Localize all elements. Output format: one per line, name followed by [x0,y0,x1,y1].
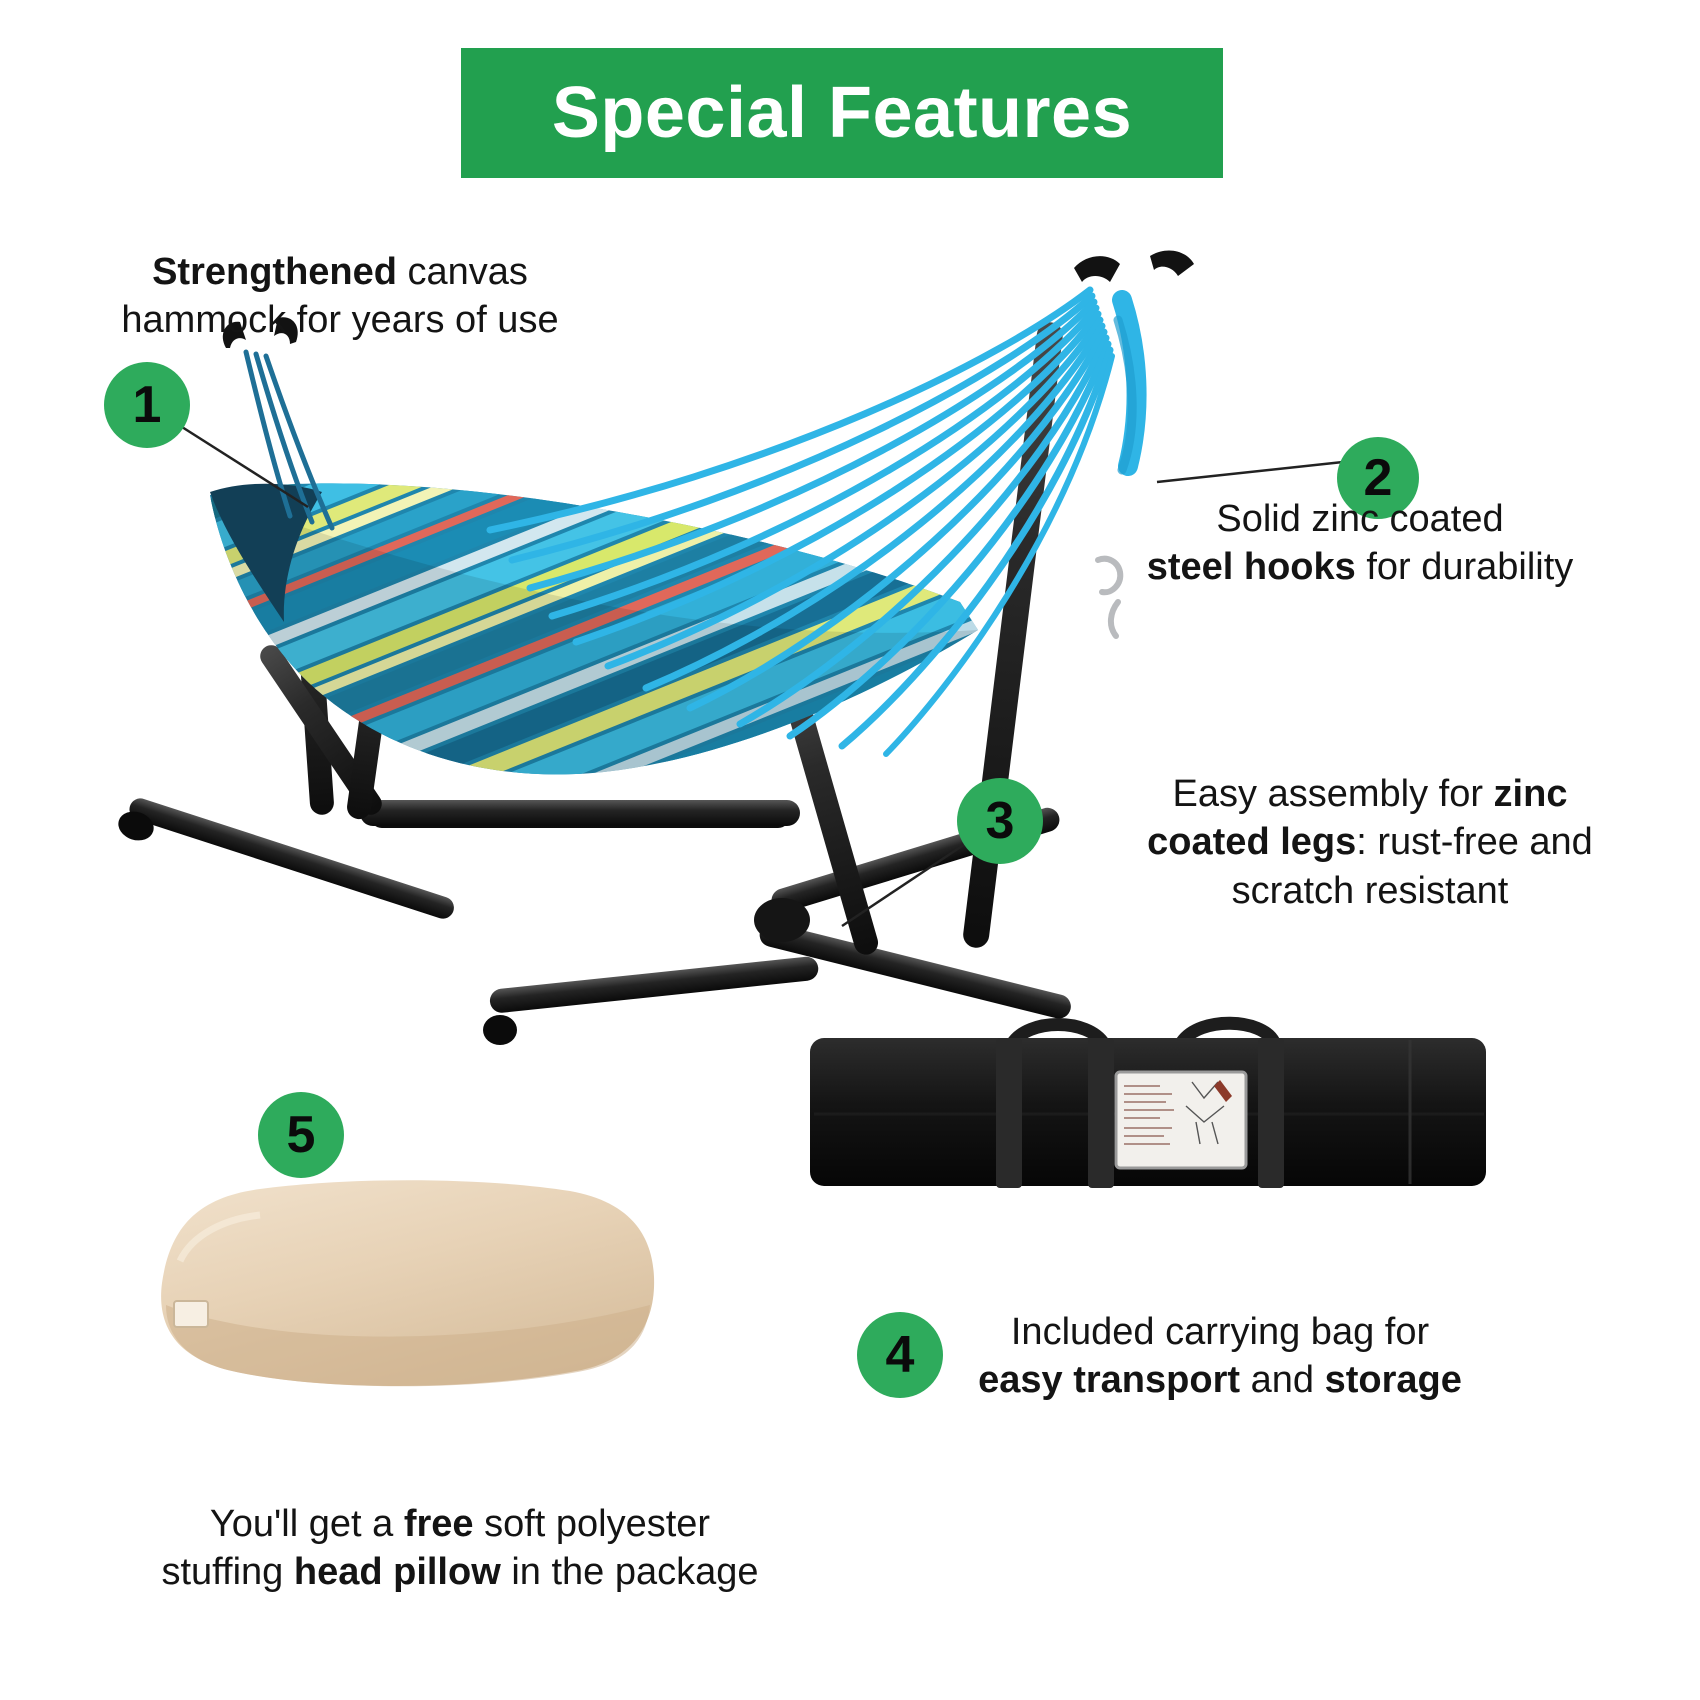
leader-line-3 [840,840,970,930]
feature-badge-1[interactable]: 1 [104,362,190,448]
hammock-and-stand-illustration [60,230,1240,1090]
feature-text-5-bold-b: head pillow [294,1551,501,1593]
feature-text-4-line1: Included carrying bag for [960,1308,1480,1356]
carrying-bag-illustration [800,1010,1500,1210]
bag-seams [814,1040,1484,1184]
page-title-banner: Special Features [461,48,1223,178]
feature-text-2: Solid zinc coated steel hooks for durabi… [1030,495,1690,592]
stand-left-upright [256,559,386,819]
bag-instruction-label [1116,1072,1246,1168]
feature-text-2-line1: Solid zinc coated [1030,495,1690,543]
feature-badge-4-number: 4 [886,1329,915,1381]
feature-text-3-line3: scratch resistant [1055,867,1685,915]
feature-text-5-line1: You'll get a free soft polyester [120,1500,800,1548]
feature-text-4-bold-b: storage [1325,1359,1462,1401]
feature-text-5-c: stuffing [161,1551,293,1593]
feature-text-3-line2: coated legs: rust-free and [1055,818,1685,866]
hammock-body [60,230,1240,1090]
feature-text-5-b: soft polyester [474,1503,711,1545]
feature-text-4-mid: and [1240,1359,1325,1401]
feature-text-3: Easy assembly for zinc coated legs: rust… [1055,770,1685,915]
feature-text-2-bold: steel hooks [1147,546,1356,588]
hammock-left-ropes [246,352,332,528]
leader-line-2 [1155,452,1345,492]
feature-text-3-rest-b: : rust-free and [1356,821,1593,863]
feature-text-1-rest: canvas [397,251,528,293]
feature-text-3-bold-b: coated legs [1147,821,1356,863]
stand-base [127,796,1074,1022]
bag-handles [1012,1023,1274,1044]
hammock-ropes [490,290,1112,754]
stand-left-leg [346,609,399,820]
feature-badge-4[interactable]: 4 [857,1312,943,1398]
feature-text-3-rest-a: Easy assembly for [1173,773,1494,815]
feature-text-3-bold-a: zinc [1494,773,1568,815]
head-pillow-illustration [140,1165,670,1405]
bag-strap-loops [996,1038,1284,1188]
feature-badge-1-number: 1 [133,379,162,431]
feature-badge-3-number: 3 [986,795,1015,847]
feature-text-4-bold-a: easy transport [978,1359,1240,1401]
feature-text-5-a: You'll get a [210,1503,404,1545]
feature-text-2-line2: steel hooks for durability [1030,543,1690,591]
stand-end-caps [115,807,1006,1045]
feature-text-5: You'll get a free soft polyester stuffin… [120,1500,800,1597]
feature-text-1-bold: Strengthened [152,251,397,293]
feature-text-4-line2: easy transport and storage [960,1356,1480,1404]
feature-text-1-line1: Strengthened canvas [110,248,570,296]
feature-text-5-d: in the package [501,1551,759,1593]
feature-text-1-line2: hammock for years of use [110,296,570,344]
feature-text-4: Included carrying bag for easy transport… [960,1308,1480,1405]
leader-line-1 [180,425,320,515]
feature-text-2-rest: for durability [1356,546,1574,588]
feature-badge-3[interactable]: 3 [957,778,1043,864]
page-title: Special Features [552,77,1132,149]
pillow-tag [174,1301,208,1327]
feature-text-5-line2: stuffing head pillow in the package [120,1548,800,1596]
feature-badge-5[interactable]: 5 [258,1092,344,1178]
feature-badge-5-number: 5 [287,1109,316,1161]
infographic-page: Special Features [0,0,1700,1700]
feature-text-5-bold-a: free [404,1503,474,1545]
hook-rope-coil [1118,300,1137,470]
stand-right-leg [489,663,881,1014]
feature-text-1: Strengthened canvas hammock for years of… [110,248,570,345]
feature-text-3-line1: Easy assembly for zinc [1055,770,1685,818]
